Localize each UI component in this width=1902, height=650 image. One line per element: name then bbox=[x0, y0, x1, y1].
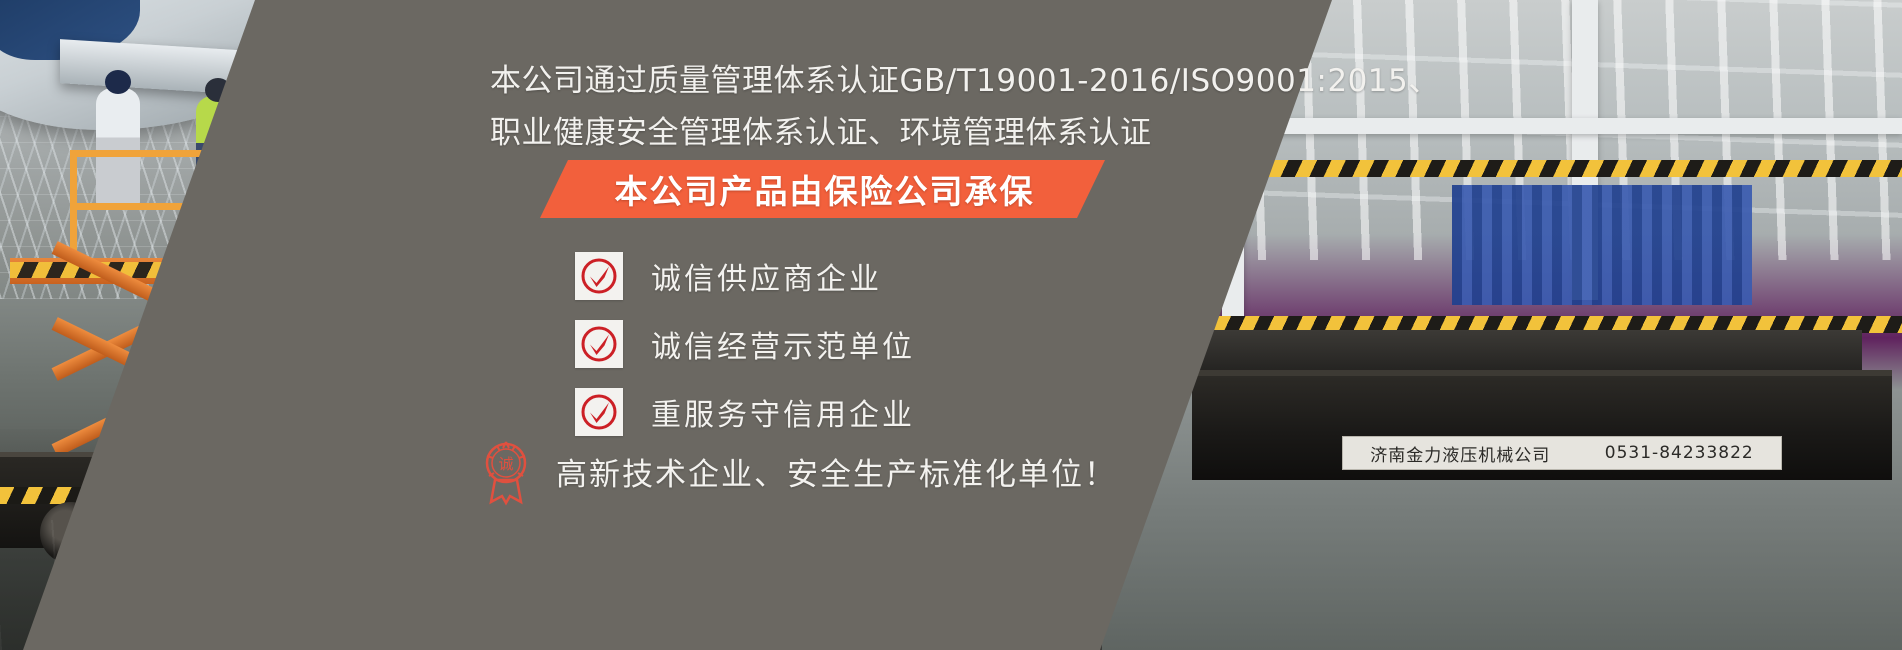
check-circle-icon bbox=[575, 252, 623, 300]
list-item-label: 重服务守信用企业 bbox=[651, 390, 915, 434]
banner-content: 本公司通过质量管理体系认证GB/T19001-2016/ISO9001:2015… bbox=[0, 0, 1902, 650]
highlight-label: 高新技术企业、安全生产标准化单位！ bbox=[556, 449, 1117, 494]
highlight-row: 诚 高新技术企业、安全生产标准化单位！ bbox=[470, 435, 1117, 507]
list-item: 诚信经营示范单位 bbox=[575, 310, 915, 378]
list-item: 诚信供应商企业 bbox=[575, 242, 915, 310]
headline-line-1: 本公司通过质量管理体系认证GB/T19001-2016/ISO9001:2015… bbox=[490, 55, 1440, 100]
list-item-label: 诚信供应商企业 bbox=[651, 254, 882, 298]
headline-line-2: 职业健康安全管理体系认证、环境管理体系认证 bbox=[490, 107, 1152, 152]
award-medal-icon: 诚 bbox=[470, 435, 542, 507]
insurance-promo-text: 本公司产品由保险公司承保 bbox=[611, 165, 1035, 213]
check-circle-icon bbox=[575, 388, 623, 436]
insurance-promo-banner: 本公司产品由保险公司承保 bbox=[540, 160, 1105, 218]
promo-banner-image: 济南金力液压机械公司 0531-84233822 济南金力液压机械公司 0531… bbox=[0, 0, 1902, 650]
list-item-label: 诚信经营示范单位 bbox=[651, 322, 915, 366]
check-circle-icon bbox=[575, 320, 623, 368]
certification-list: 诚信供应商企业 诚信经营示范单位 重服务守信 bbox=[575, 242, 915, 446]
medal-inner-text: 诚 bbox=[498, 455, 513, 473]
